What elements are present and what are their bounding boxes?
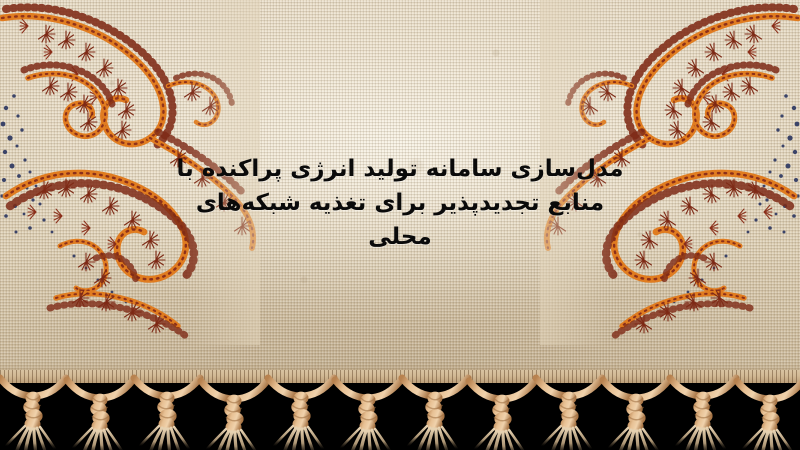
tassel-row <box>0 378 800 450</box>
title-line-3: محلی <box>0 220 800 254</box>
title-line-2: منابع تجدیدپذیر برای تغذیه شبکه‌های <box>0 186 800 220</box>
scroll-inner-curl <box>688 65 776 136</box>
title-line-1: مدل‌سازی سامانه تولید انرژی پراکنده با <box>0 152 800 186</box>
slide-title: مدل‌سازی سامانه تولید انرژی پراکنده با م… <box>0 152 800 254</box>
tassel-fringe <box>0 370 800 450</box>
tendril-tail <box>614 289 750 336</box>
scroll-inner-curl <box>24 65 112 136</box>
tendril-tail <box>50 289 186 336</box>
slide-canvas: مدل‌سازی سامانه تولید انرژی پراکنده با م… <box>0 0 800 450</box>
